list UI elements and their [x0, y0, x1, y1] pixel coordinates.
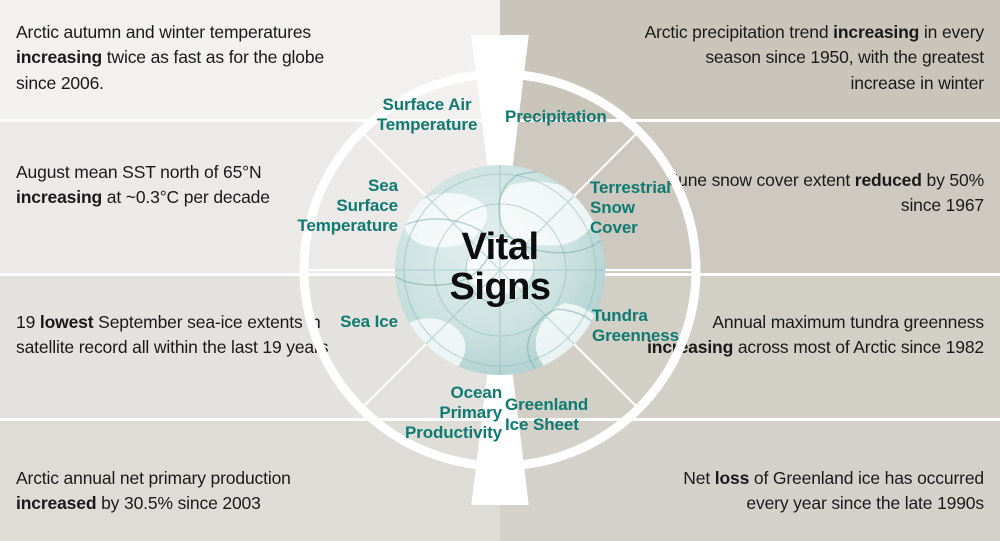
wedge-label-tundra-greenness[interactable]: Tundra Greenness: [592, 306, 712, 346]
wedge-label-greenland-ice-sheet[interactable]: Greenland Ice Sheet: [505, 395, 640, 435]
center-title: Vital Signs: [400, 228, 600, 308]
wedge-label-sea-ice[interactable]: Sea Ice: [288, 312, 398, 332]
wedge-label-surface-air-temperature[interactable]: Surface Air Temperature: [357, 95, 497, 135]
wedge-label-precipitation[interactable]: Precipitation: [505, 107, 655, 127]
wedge-label-terrestrial-snow-cover[interactable]: Terrestrial Snow Cover: [590, 178, 710, 238]
wedge-label-sea-surface-temperature[interactable]: Sea Surface Temperature: [288, 176, 398, 236]
wedge-label-ocean-primary-productivity[interactable]: Ocean Primary Productivity: [372, 383, 502, 443]
infographic-canvas: Arctic autumn and winter temperatures in…: [0, 0, 1000, 541]
